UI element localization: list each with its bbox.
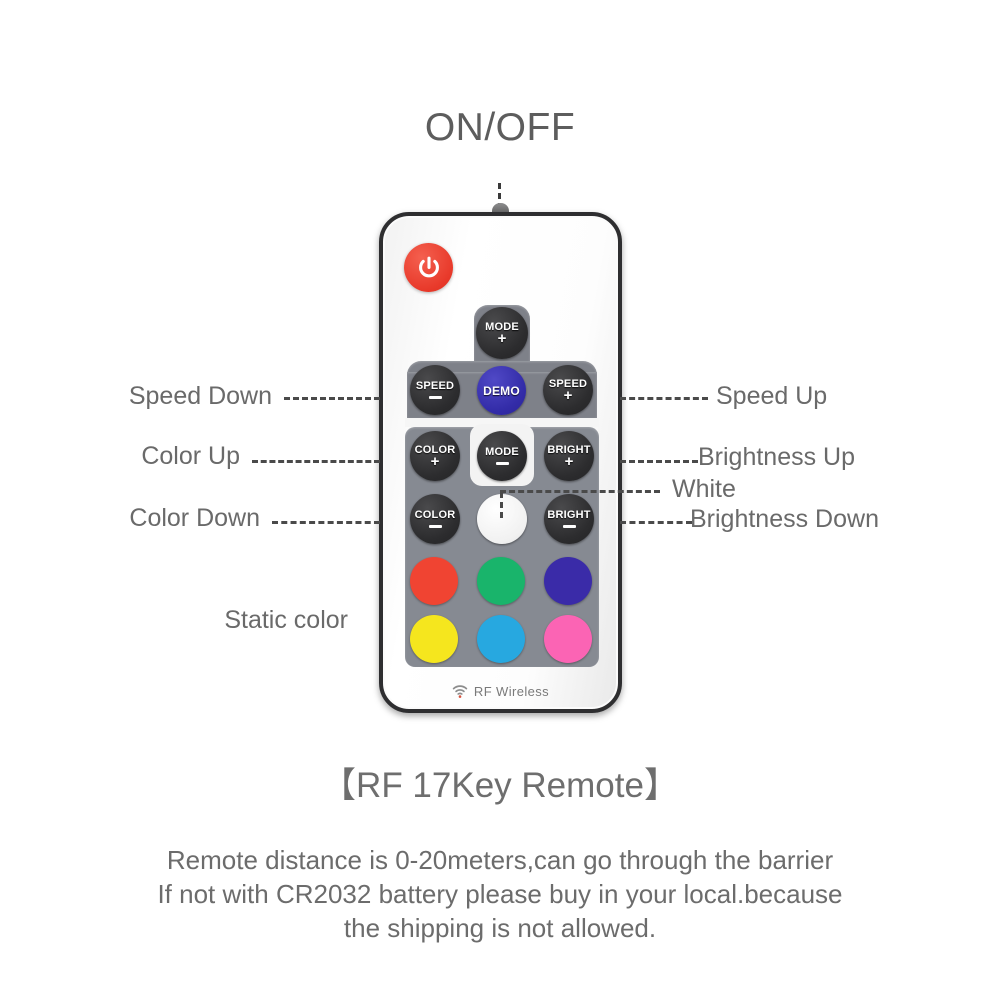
key-swatch-cyan[interactable] [477, 615, 525, 663]
rf-wireless-badge: RF Wireless [379, 684, 622, 699]
infographic-canvas: ON/OFF MODE + SPEED DEMO SPEED + [0, 0, 1000, 1000]
leader-line-white [500, 490, 660, 493]
key-color-plus-symbol: + [431, 456, 440, 468]
key-speed-plus[interactable]: SPEED + [543, 365, 593, 415]
leader-line-color-up [252, 460, 380, 463]
key-color-plus[interactable]: COLOR + [410, 431, 460, 481]
leader-line-color-down [272, 521, 380, 524]
key-bright-minus-symbol [563, 525, 576, 528]
callout-speed-up: Speed Up [716, 382, 827, 411]
key-bright-minus[interactable]: BRIGHT [544, 494, 594, 544]
key-mode-minus[interactable]: MODE [477, 431, 527, 481]
callout-color-down: Color Down [0, 504, 260, 533]
wifi-icon [452, 685, 468, 698]
callout-brightness-up: Brightness Up [698, 443, 855, 472]
power-button[interactable] [404, 243, 453, 292]
key-mode-plus-symbol: + [498, 333, 507, 345]
leader-line-speed-down [284, 397, 380, 400]
key-swatch-red[interactable] [410, 557, 458, 605]
key-speed-minus-label: SPEED [416, 381, 454, 392]
key-swatch-yellow[interactable] [410, 615, 458, 663]
callout-static-color: Static color [0, 606, 348, 635]
description-line-3: the shipping is not allowed. [0, 911, 1000, 945]
key-demo[interactable]: DEMO [477, 366, 526, 415]
key-speed-plus-symbol: + [564, 390, 573, 402]
key-color-minus-symbol [429, 525, 442, 528]
key-mode-minus-symbol [496, 462, 509, 465]
power-icon [416, 255, 442, 281]
key-bright-minus-label: BRIGHT [547, 510, 590, 521]
callout-speed-down: Speed Down [0, 382, 272, 411]
key-swatch-pink[interactable] [544, 615, 592, 663]
key-swatch-green[interactable] [477, 557, 525, 605]
leader-line-brightness-up [620, 460, 698, 463]
rf-wireless-label: RF Wireless [474, 684, 549, 699]
callout-brightness-down: Brightness Down [690, 505, 879, 534]
key-color-minus[interactable]: COLOR [410, 494, 460, 544]
leader-line-brightness-down [620, 521, 692, 524]
callout-on-off-label: ON/OFF [0, 106, 1000, 150]
description-block: Remote distance is 0-20meters,can go thr… [0, 843, 1000, 945]
callout-color-up: Color Up [0, 442, 240, 471]
description-line-1: Remote distance is 0-20meters,can go thr… [0, 843, 1000, 877]
description-line-2: If not with CR2032 battery please buy in… [0, 877, 1000, 911]
key-swatch-indigo[interactable] [544, 557, 592, 605]
key-mode-plus[interactable]: MODE + [476, 307, 528, 359]
key-speed-minus-symbol [429, 396, 442, 399]
callout-white: White [672, 475, 736, 504]
key-speed-minus[interactable]: SPEED [410, 365, 460, 415]
key-color-minus-label: COLOR [415, 510, 456, 521]
leader-line-white-vertical [500, 492, 503, 518]
key-bright-plus[interactable]: BRIGHT + [544, 431, 594, 481]
figure-caption: 【RF 17Key Remote】 [0, 757, 1000, 808]
key-bright-plus-symbol: + [565, 456, 574, 468]
leader-line-speed-up [620, 397, 708, 400]
key-demo-label: DEMO [483, 385, 520, 397]
key-mode-minus-label: MODE [485, 447, 519, 458]
